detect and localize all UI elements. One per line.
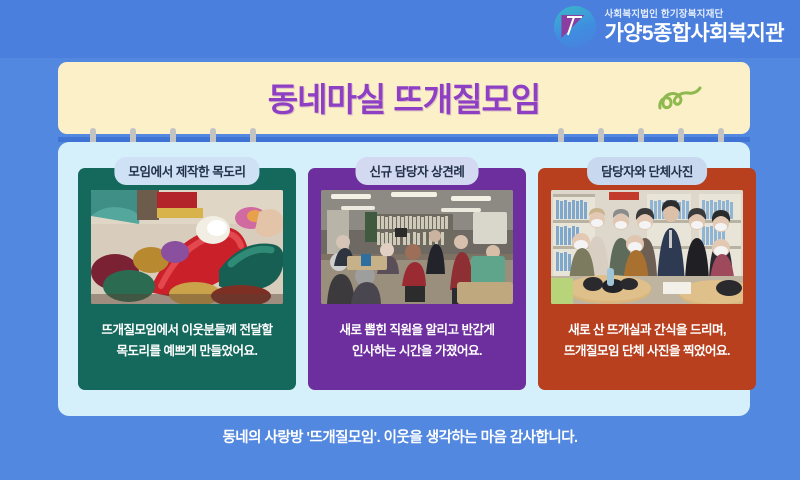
organization-name: 가양5종합사회복지관: [604, 23, 784, 44]
card-caption: 뜨개질모임에서 이웃분들께 전달할 목도리를 예쁘게 만들었어요.: [78, 320, 296, 363]
poster-root: 사회복지법인 한기장복지재단 가양5종합사회복지관 동네마실 뜨개질모임 모임에…: [0, 0, 800, 480]
card-photo: [321, 190, 513, 304]
card-item: 담당자와 단체사진: [538, 168, 756, 390]
card-caption-line2: 뜨개질모임 단체 사진을 찍었어요.: [546, 341, 748, 362]
title-banner: 동네마실 뜨개질모임: [58, 62, 750, 134]
card-item: 신규 담당자 상견례: [308, 168, 526, 390]
card-caption-line1: 뜨개질모임에서 이웃분들께 전달할: [86, 320, 288, 341]
card-item: 모임에서 제작한 목도리: [78, 168, 296, 390]
card-caption-line1: 새로 뽑힌 직원을 알리고 반갑게: [316, 320, 518, 341]
footer-message: 동네의 사랑방 '뜨개질모임'. 이웃을 생각하는 마음 감사합니다.: [0, 426, 800, 447]
card-photo: [91, 190, 283, 304]
page-title: 동네마실 뜨개질모임: [58, 73, 750, 121]
green-sprout-vine-icon: [656, 84, 702, 114]
card-list: 모임에서 제작한 목도리: [78, 168, 756, 390]
card-caption-line2: 목도리를 예쁘게 만들었어요.: [86, 341, 288, 362]
card-caption-line1: 새로 산 뜨개실과 간식을 드리며,: [546, 320, 748, 341]
card-label: 담당자와 단체사진: [587, 157, 707, 185]
organization-logo-block: 사회복지법인 한기장복지재단 가양5종합사회복지관: [554, 6, 784, 48]
header-bar: 사회복지법인 한기장복지재단 가양5종합사회복지관: [0, 0, 800, 58]
card-photo: [551, 190, 743, 304]
community-room-meeting-photo: [321, 190, 513, 304]
card-caption: 새로 뽑힌 직원을 알리고 반갑게 인사하는 시간을 가졌어요.: [308, 320, 526, 363]
card-label: 모임에서 제작한 목도리: [114, 157, 259, 185]
card-caption: 새로 산 뜨개실과 간식을 드리며, 뜨개질모임 단체 사진을 찍었어요.: [538, 320, 756, 363]
card-caption-line2: 인사하는 시간을 가졌어요.: [316, 341, 518, 362]
knitted-scarves-photo: [91, 190, 283, 304]
card-label: 신규 담당자 상견례: [356, 157, 479, 185]
group-photo: [551, 190, 743, 304]
organization-subtitle: 사회복지법인 한기장복지재단: [604, 10, 784, 20]
circle-swoosh-logo-icon: [554, 6, 596, 48]
organization-text: 사회복지법인 한기장복지재단 가양5종합사회복지관: [604, 10, 784, 45]
